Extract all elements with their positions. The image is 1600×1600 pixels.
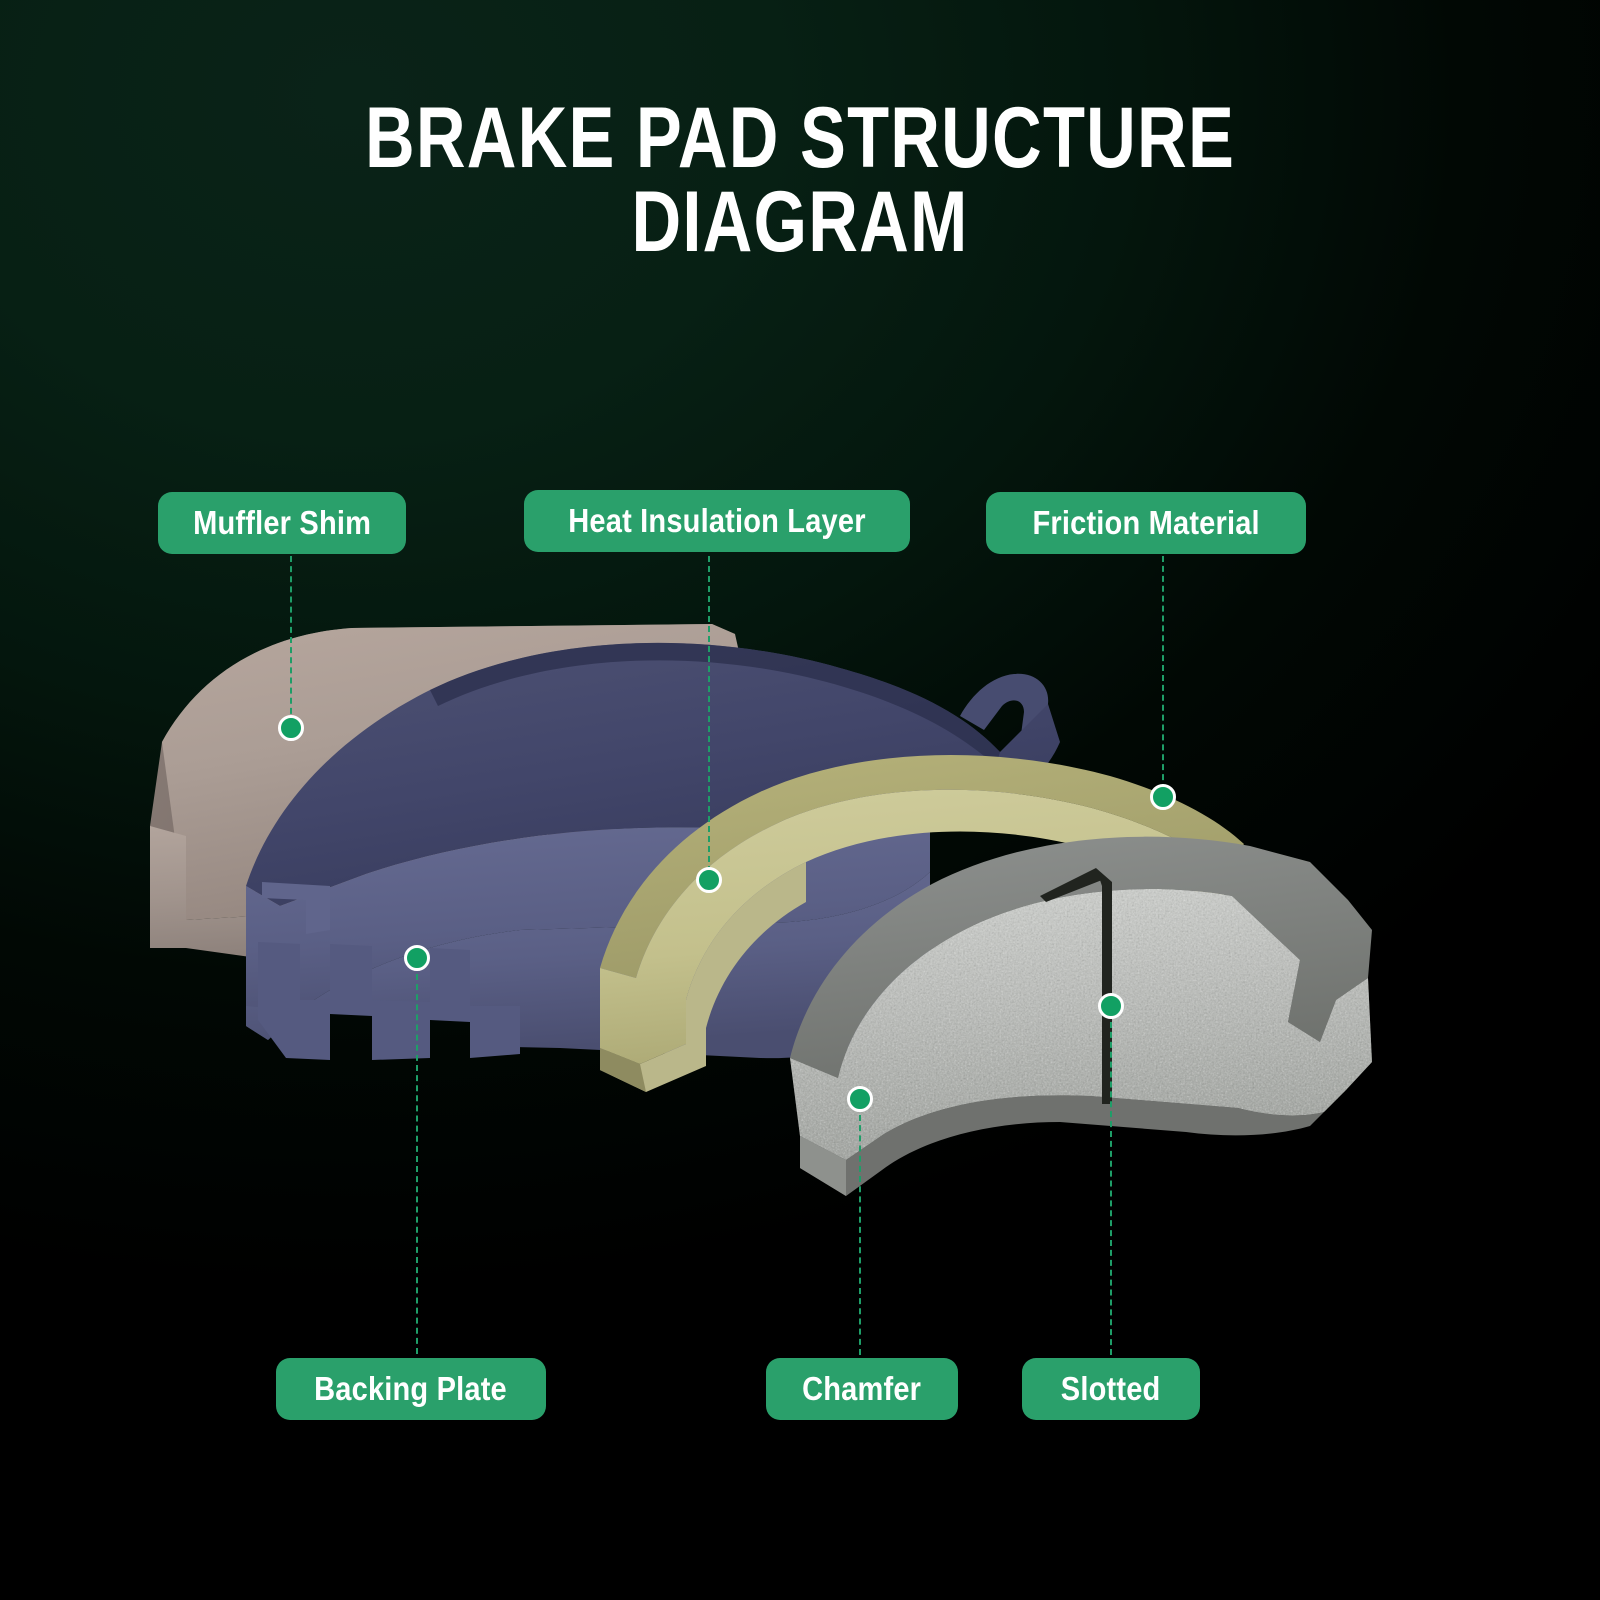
label-badge-heat-insulation-layer[interactable]: Heat Insulation Layer bbox=[524, 490, 910, 552]
leader-line-chamfer bbox=[859, 1115, 861, 1355]
diagram-canvas: BRAKE PAD STRUCTURE DIAGRAM Muffler Shim… bbox=[0, 0, 1600, 1600]
label-text-chamfer: Chamfer bbox=[802, 1370, 921, 1408]
label-text-slotted: Slotted bbox=[1061, 1370, 1161, 1408]
marker-dot-chamfer[interactable] bbox=[847, 1086, 873, 1112]
marker-dot-friction-material[interactable] bbox=[1150, 784, 1176, 810]
label-badge-friction-material[interactable]: Friction Material bbox=[986, 492, 1306, 554]
marker-dot-muffler-shim[interactable] bbox=[278, 715, 304, 741]
leader-line-heat-insulation-layer bbox=[708, 556, 710, 872]
label-text-muffler-shim: Muffler Shim bbox=[193, 504, 371, 542]
label-text-backing-plate: Backing Plate bbox=[315, 1370, 508, 1408]
label-badge-slotted[interactable]: Slotted bbox=[1022, 1358, 1200, 1420]
leader-line-slotted bbox=[1110, 1022, 1112, 1355]
marker-dot-backing-plate[interactable] bbox=[404, 945, 430, 971]
label-text-friction-material: Friction Material bbox=[1032, 504, 1259, 542]
marker-dot-heat-insulation-layer[interactable] bbox=[696, 867, 722, 893]
label-text-heat-insulation-layer: Heat Insulation Layer bbox=[568, 502, 865, 540]
label-badge-chamfer[interactable]: Chamfer bbox=[766, 1358, 958, 1420]
label-badge-muffler-shim[interactable]: Muffler Shim bbox=[158, 492, 406, 554]
label-badge-backing-plate[interactable]: Backing Plate bbox=[276, 1358, 546, 1420]
marker-dot-slotted[interactable] bbox=[1098, 993, 1124, 1019]
leader-line-backing-plate bbox=[416, 974, 418, 1354]
leader-line-friction-material bbox=[1162, 556, 1164, 790]
leader-line-muffler-shim bbox=[290, 556, 292, 724]
